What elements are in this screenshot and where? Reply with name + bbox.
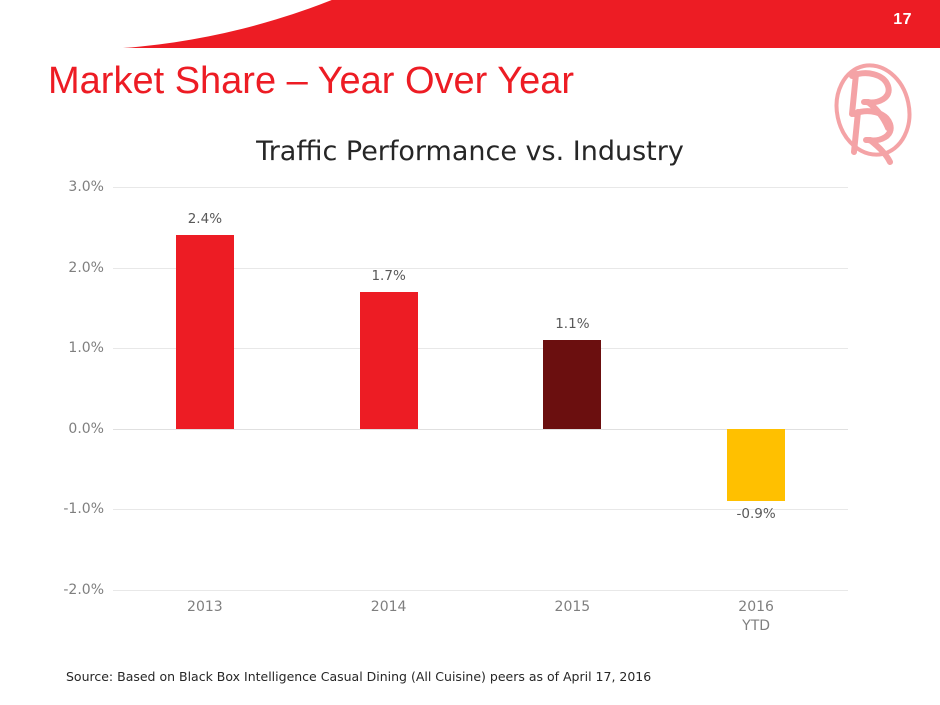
bar-2016-ytd bbox=[727, 429, 785, 502]
y-axis-tick-label: -2.0% bbox=[28, 582, 104, 598]
y-axis-tick-label: 0.0% bbox=[28, 421, 104, 437]
x-axis-tick-label: 2016 YTD bbox=[738, 598, 774, 636]
bar-value-label: 2.4% bbox=[188, 211, 222, 227]
bar-2014 bbox=[360, 292, 418, 429]
y-axis-tick-label: 2.0% bbox=[28, 260, 104, 276]
bar-value-label: 1.7% bbox=[371, 268, 405, 284]
page-number: 17 bbox=[893, 11, 912, 29]
page-title: Market Share – Year Over Year bbox=[48, 60, 574, 103]
source-note: Source: Based on Black Box Intelligence … bbox=[66, 669, 651, 684]
plot-area: 2.4%1.7%1.1%-0.9% bbox=[113, 187, 848, 590]
x-axis-tick-label: 2013 bbox=[187, 598, 223, 617]
y-axis-tick-label: 3.0% bbox=[28, 179, 104, 195]
bar-value-label: 1.1% bbox=[555, 316, 589, 332]
bar-chart: 3.0%2.0%1.0%0.0%-1.0%-2.0% 2.4%1.7%1.1%-… bbox=[0, 0, 940, 705]
gridline bbox=[113, 590, 848, 591]
bar-2015 bbox=[543, 340, 601, 429]
y-axis-tick-label: -1.0% bbox=[28, 501, 104, 517]
y-axis-ticks: 3.0%2.0%1.0%0.0%-1.0%-2.0% bbox=[28, 187, 104, 590]
slide-canvas: 17 Market Share – Year Over Year Traffic… bbox=[0, 0, 940, 705]
y-axis-tick-label: 1.0% bbox=[28, 340, 104, 356]
bar-2013 bbox=[176, 235, 234, 428]
x-axis-tick-label: 2015 bbox=[555, 598, 591, 617]
x-axis-tick-label: 2014 bbox=[371, 598, 407, 617]
bar-value-label: -0.9% bbox=[737, 506, 776, 522]
gridline bbox=[113, 187, 848, 188]
